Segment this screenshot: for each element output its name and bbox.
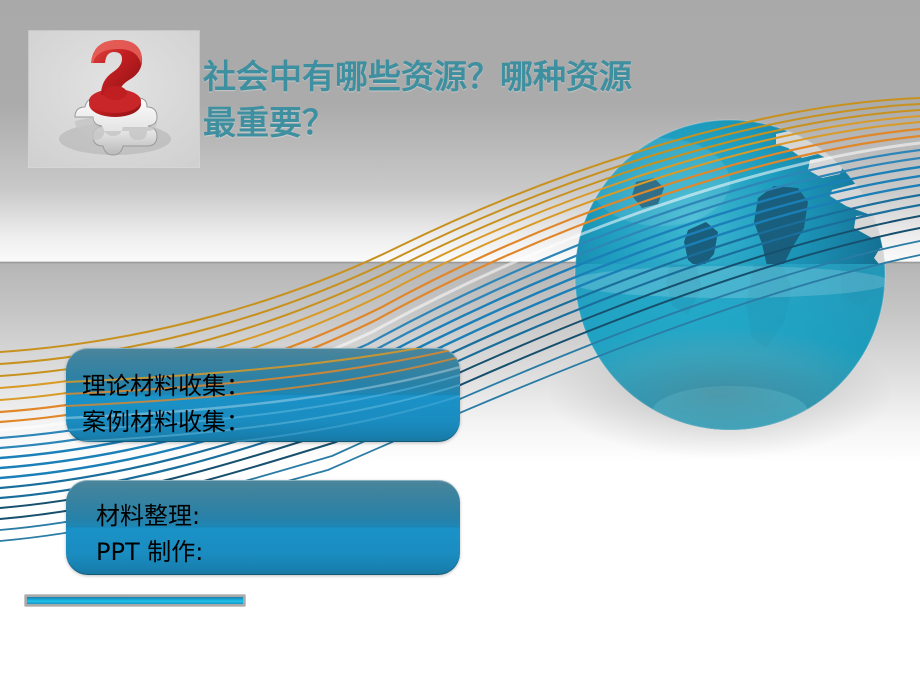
page-title: 社会中有哪些资源？哪种资源 最重要？: [203, 54, 763, 146]
callout-box-1-text: 理论材料收集： 案例材料收集：: [82, 368, 250, 440]
bottom-accent-bar-fill: [27, 597, 243, 604]
callout-box-2-text: 材料整理: PPT 制作:: [96, 498, 203, 570]
callout-box-2[interactable]: 材料整理: PPT 制作:: [66, 480, 460, 575]
presentation-slide: 社会中有哪些资源？哪种资源 最重要？ 理论材料收集： 案例材料收集： 材料整理:…: [0, 0, 920, 690]
callout-box-1[interactable]: 理论材料收集： 案例材料收集：: [66, 348, 460, 442]
question-mark-puzzle-icon: [29, 31, 199, 167]
bottom-accent-bar: [25, 595, 245, 606]
question-mark-image: [29, 31, 199, 167]
